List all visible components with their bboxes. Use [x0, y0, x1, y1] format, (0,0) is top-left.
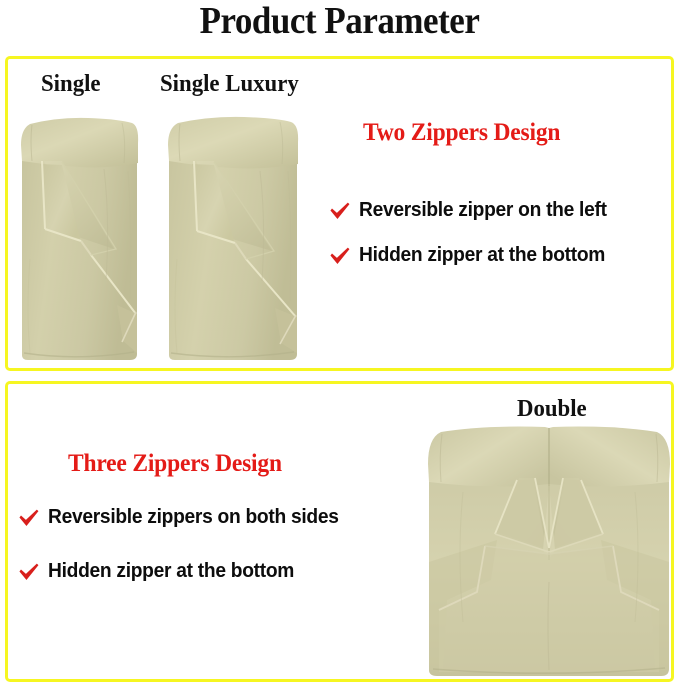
section-heading-two-zippers: Two Zippers Design: [363, 119, 560, 147]
feature-text: Hidden zipper at the bottom: [359, 244, 605, 267]
feature-text: Reversible zipper on the left: [359, 199, 607, 222]
feature-item-reversible-both: Reversible zippers on both sides: [18, 506, 351, 529]
product-image-single: [18, 109, 143, 364]
feature-text: Hidden zipper at the bottom: [48, 560, 294, 583]
product-label-double: Double: [517, 396, 587, 423]
product-image-single-luxury: [164, 109, 304, 364]
page-title: Product Parameter: [27, 0, 652, 44]
check-icon: [329, 246, 351, 266]
check-icon: [329, 201, 351, 221]
section-heading-three-zippers: Three Zippers Design: [68, 450, 282, 478]
feature-item-hidden-bottom: Hidden zipper at the bottom: [329, 244, 615, 267]
panel-two-zippers: Single Single Luxury: [5, 56, 674, 371]
feature-text: Reversible zippers on both sides: [48, 506, 339, 529]
product-image-double: [423, 422, 675, 682]
feature-item-hidden-bottom-2: Hidden zipper at the bottom: [18, 560, 304, 583]
product-label-single-luxury: Single Luxury: [160, 71, 299, 98]
product-label-single: Single: [41, 71, 101, 98]
feature-item-reversible-left: Reversible zipper on the left: [329, 199, 617, 222]
check-icon: [18, 508, 40, 528]
check-icon: [18, 562, 40, 582]
panel-three-zippers: Double Three Zippers Design Reversible z…: [5, 381, 674, 682]
